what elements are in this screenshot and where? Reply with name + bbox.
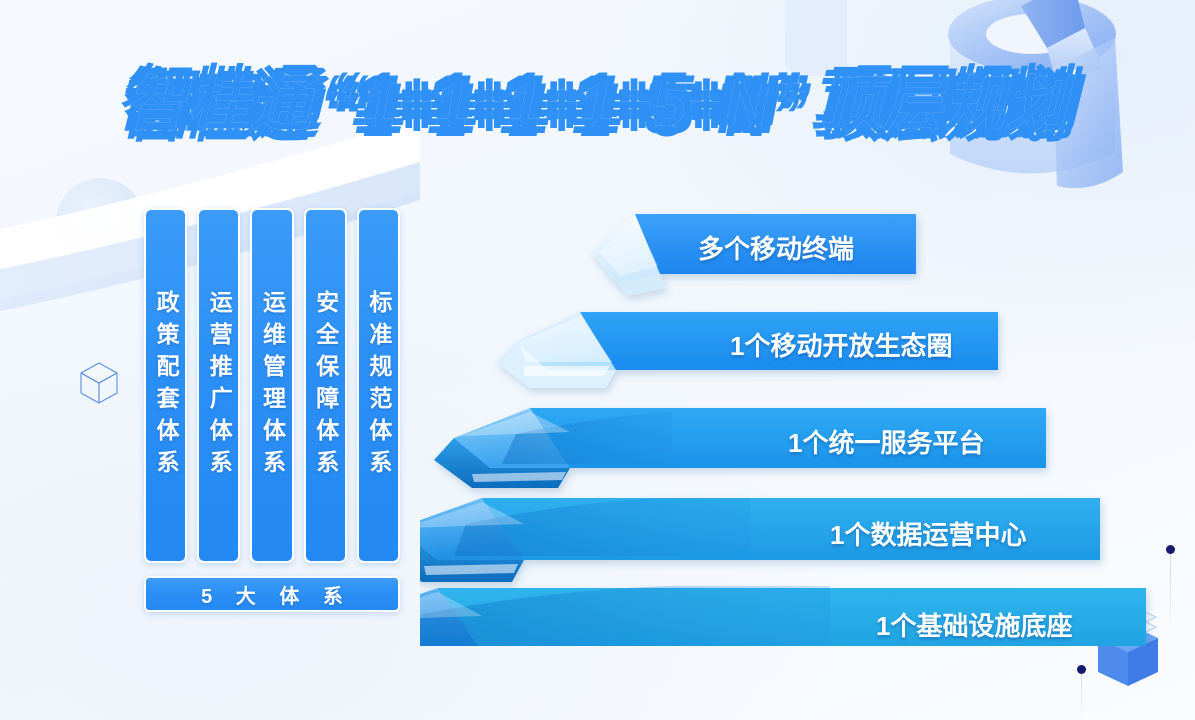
navy-dot	[1166, 545, 1175, 554]
system-column-label: 运维管理体系	[261, 290, 284, 482]
pyramid-tier-3-label: 1个统一服务平台	[788, 423, 984, 460]
system-column-label: 安全保障体系	[314, 290, 337, 482]
pin-line	[1170, 552, 1171, 636]
five-systems-panel: 政策配套体系 运营推广体系 运维管理体系 安全保障体系 标准规范体系 5 大 体…	[144, 208, 400, 612]
system-column-label: 运营推广体系	[207, 290, 230, 482]
poster-canvas: 智桂通 “1+1+1+1+5+N” 顶层规划 政策配套体系 运营推广体系 运维管…	[0, 0, 1195, 720]
page-title-container: 智桂通 “1+1+1+1+5+N” 顶层规划	[0, 56, 1195, 143]
system-column-operations[interactable]: 运营推广体系	[197, 208, 240, 563]
soft-circle-decoration	[56, 178, 144, 266]
pyramid-tier-2-label: 1个移动开放生态圈	[730, 326, 952, 363]
system-column-policy[interactable]: 政策配套体系	[144, 208, 187, 563]
pyramid-tier-5-label: 1个基础设施底座	[876, 606, 1072, 643]
page-title: 智桂通 “1+1+1+1+5+N” 顶层规划	[126, 56, 1069, 143]
pyramid-tier-1-label: 多个移动终端	[698, 229, 854, 266]
cube-outline-icon	[78, 360, 120, 406]
system-column-maintenance[interactable]: 运维管理体系	[250, 208, 293, 563]
pyramid-tier-4-label: 1个数据运营中心	[830, 515, 1026, 552]
navy-dot	[1077, 665, 1086, 674]
system-columns-row: 政策配套体系 运营推广体系 运维管理体系 安全保障体系 标准规范体系	[144, 208, 400, 563]
system-column-label: 标准规范体系	[367, 290, 390, 482]
five-systems-footer[interactable]: 5 大 体 系	[144, 576, 400, 612]
system-column-standards[interactable]: 标准规范体系	[357, 208, 400, 563]
system-column-security[interactable]: 安全保障体系	[304, 208, 347, 563]
pin-line	[1081, 672, 1082, 720]
five-systems-footer-label: 5 大 体 系	[192, 580, 352, 609]
pyramid-diagram: 多个移动终端 1个移动开放生态圈 1个统一服务平台 1个数据运营中心 1个基础设…	[420, 196, 1160, 646]
system-column-label: 政策配套体系	[154, 290, 177, 482]
